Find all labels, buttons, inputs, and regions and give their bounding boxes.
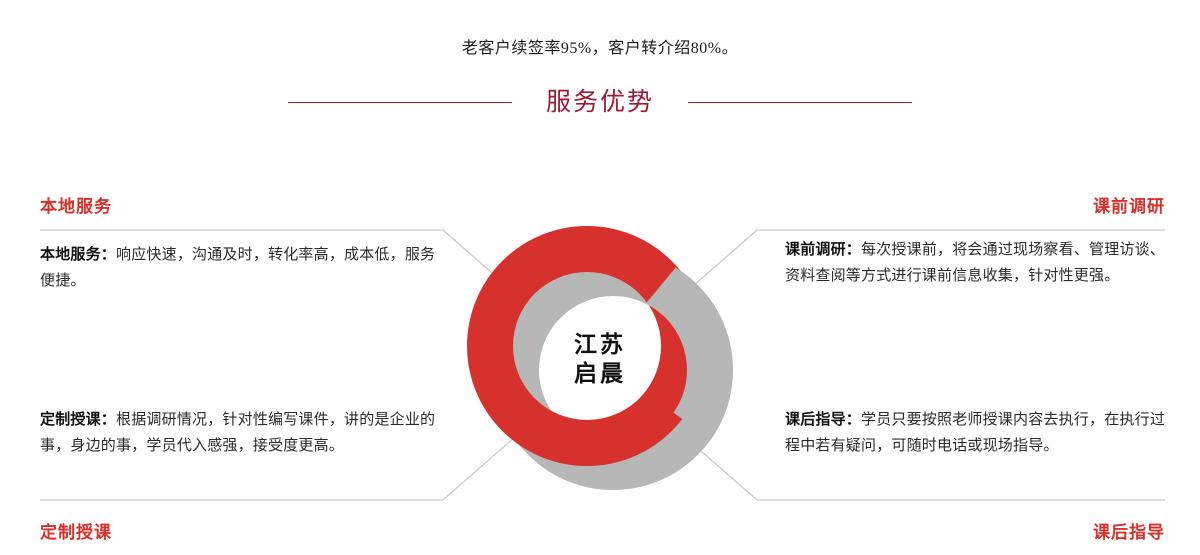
text-block-heading: 课前调研： [785, 241, 861, 258]
corner-label-top-left: 本地服务 [40, 192, 112, 217]
corner-label-bottom-right: 课后指导 [1093, 518, 1165, 543]
text-block-bottom-right: 课后指导：学员只要按照老师授课内容去执行，在执行过程中若有疑问，可随时电话或现场… [785, 407, 1175, 459]
text-block-heading: 定制授课： [40, 411, 116, 428]
text-block-bottom-left: 定制授课：根据调研情况，针对性编写课件，讲的是企业的事，身边的事，学员代入感强，… [40, 407, 440, 459]
interlocking-rings-icon [455, 224, 745, 494]
text-block-top-right: 课前调研：每次授课前，将会通过现场察看、管理访谈、资料查阅等方式进行课前信息收集… [785, 237, 1175, 289]
text-block-heading: 课后指导： [785, 411, 861, 428]
logo-inner-disc [548, 306, 652, 410]
corner-label-bottom-left: 定制授课 [40, 518, 112, 543]
slide-canvas: 老客户续签率95%，客户转介绍80%。 服务优势 本地服务 课前调研 定制授课 … [0, 0, 1200, 555]
corner-label-top-right: 课前调研 [1093, 192, 1165, 217]
text-block-heading: 本地服务： [40, 246, 116, 263]
company-logo: 江苏 启晨 [455, 224, 745, 494]
text-block-top-left: 本地服务：响应快速，沟通及时，转化率高，成本低，服务便捷。 [40, 242, 440, 294]
